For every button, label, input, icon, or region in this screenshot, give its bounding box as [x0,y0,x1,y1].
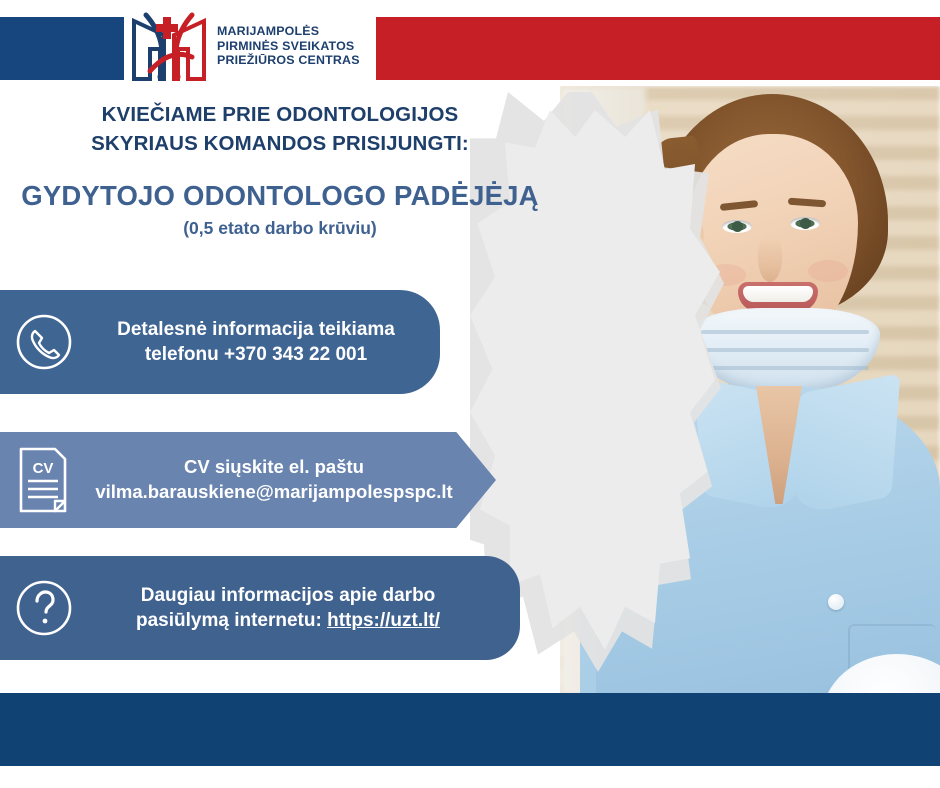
more-info-link[interactable]: https://uzt.lt/ [327,610,440,631]
marijampoles-pspc-logo-icon [130,9,208,83]
contact-box-phone-text: Detalesnė informacija teikiama telefonu … [78,317,434,368]
contact-box-email[interactable]: CV CV siųskite el. paštu vilma.barauskie… [0,432,496,528]
email-address: vilma.barauskiene@marijampolespspc.lt [74,480,474,505]
subject-pupil-left [732,221,743,232]
uniform-button [828,594,844,610]
headline-intro-line-2: SKYRIAUS KOMANDOS PRISIJUNGTI: [0,129,560,158]
subject-cheek-right [808,260,848,282]
header-bar-red [371,17,940,80]
brand-line-1: MARIJAMPOLĖS [217,24,360,38]
svg-text:CV: CV [33,460,54,477]
brand-logo: MARIJAMPOLĖS PIRMINĖS SVEIKATOS PRIEŽIŪR… [124,0,376,92]
brand-logo-text: MARIJAMPOLĖS PIRMINĖS SVEIKATOS PRIEŽIŪR… [217,24,360,67]
question-mark-circle-icon [14,578,74,638]
subject-nose [758,236,782,282]
more-info-prefix: pasiūlymą internetu: [136,610,322,631]
phone-line-2: telefonu +370 343 22 001 [78,342,434,367]
more-info-line-2: pasiūlymą internetu: https://uzt.lt/ [78,608,498,633]
contact-box-more-info-text: Daugiau informacijos apie darbo pasiūlym… [78,583,498,634]
email-line-1: CV siųskite el. paštu [74,455,474,480]
headline-intro-line-1: KVIEČIAME PRIE ODONTOLOGIJOS [0,100,560,129]
uniform-collar-right [790,373,901,517]
footer-bar [0,693,940,766]
cv-document-icon: CV [14,445,72,515]
phone-circle-icon [14,312,74,372]
contact-box-more-info[interactable]: Daugiau informacijos apie darbo pasiūlym… [0,556,520,660]
job-advert-poster: MARIJAMPOLĖS PIRMINĖS SVEIKATOS PRIEŽIŪR… [0,0,940,788]
brand-line-3: PRIEŽIŪROS CENTRAS [217,53,360,67]
phone-line-1: Detalesnė informacija teikiama [78,317,434,342]
subject-teeth [743,286,813,302]
contact-box-email-text: CV siųskite el. paštu vilma.barauskiene@… [74,455,474,505]
headline-intro: KVIEČIAME PRIE ODONTOLOGIJOS SKYRIAUS KO… [0,100,560,158]
contact-box-phone[interactable]: Detalesnė informacija teikiama telefonu … [0,290,440,394]
brand-line-2: PIRMINĖS SVEIKATOS [217,39,360,53]
more-info-line-1: Daugiau informacijos apie darbo [78,583,498,608]
job-position-title: GYDYTOJO ODONTOLOGO PADĖJĖJĄ [0,180,560,212]
job-workload: (0,5 etato darbo krūviu) [0,218,560,239]
subject-pupil-right [800,218,811,229]
